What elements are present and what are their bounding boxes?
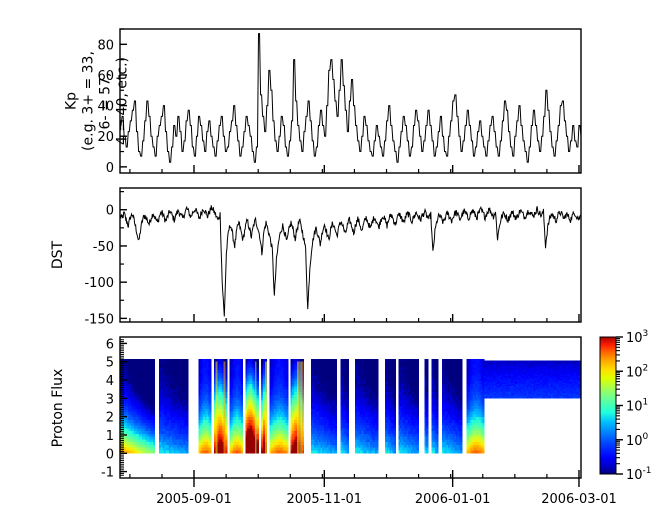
spectrogram-cell bbox=[377, 359, 379, 362]
spectrogram-cell bbox=[335, 392, 337, 395]
spectrogram-spike bbox=[297, 362, 299, 454]
spectrogram-cell bbox=[153, 359, 155, 362]
spectrogram-cell bbox=[210, 376, 212, 379]
spectrogram-cell bbox=[241, 384, 243, 387]
spectrogram-cell bbox=[210, 365, 212, 368]
spectrogram-cell bbox=[335, 451, 337, 454]
spectrogram-cell bbox=[394, 439, 396, 442]
spectrogram-cell bbox=[153, 409, 155, 412]
spectrogram-cell bbox=[225, 373, 227, 376]
spectrogram-cell bbox=[394, 359, 396, 362]
spectrogram-cell bbox=[286, 370, 288, 373]
spectrogram-cell bbox=[187, 442, 189, 445]
spectrogram-cell bbox=[394, 395, 396, 398]
spectrogram-cell bbox=[225, 412, 227, 415]
spectrogram-cell bbox=[210, 398, 212, 401]
spectrogram-cell bbox=[347, 370, 349, 373]
spectrogram-cell bbox=[394, 398, 396, 401]
spectrogram-cell bbox=[153, 439, 155, 442]
spectrogram-cell bbox=[210, 439, 212, 442]
spectrogram-cell bbox=[225, 378, 227, 381]
spectrogram-cell bbox=[377, 417, 379, 420]
spectrogram-cell bbox=[153, 431, 155, 434]
spectrogram-cell bbox=[377, 370, 379, 373]
spectrogram-cell bbox=[394, 448, 396, 451]
spectrogram-cell bbox=[335, 426, 337, 429]
spectrogram-cell bbox=[257, 409, 259, 412]
spectrogram-cell bbox=[210, 451, 212, 454]
spectrogram-cell bbox=[210, 414, 212, 417]
spectrogram-cell bbox=[377, 378, 379, 381]
spectrogram-cell bbox=[187, 381, 189, 384]
plot-svg: 020406080 Kp(e.g. 3+ = 33,6- = 57,4 = 40… bbox=[0, 0, 665, 523]
spectrogram-cell bbox=[335, 370, 337, 373]
spectrogram-cell bbox=[210, 442, 212, 445]
spectrogram-cell bbox=[257, 401, 259, 404]
spectrogram-cell bbox=[241, 426, 243, 429]
dst-axis-label-text: DST bbox=[50, 240, 66, 269]
spectrogram-cell bbox=[347, 395, 349, 398]
spectrogram-cell bbox=[210, 406, 212, 409]
spectrogram-cell bbox=[347, 387, 349, 390]
spectrogram-cell bbox=[347, 428, 349, 431]
spectrogram-cell bbox=[257, 365, 259, 368]
spectrogram-spike bbox=[302, 362, 304, 454]
spectrogram-cell bbox=[394, 387, 396, 390]
spectrogram-cell bbox=[153, 398, 155, 401]
spectrogram-cell bbox=[335, 420, 337, 423]
spectrogram-cell bbox=[286, 378, 288, 381]
spectrogram-cell bbox=[241, 406, 243, 409]
spectrogram-cell bbox=[257, 387, 259, 390]
spectrogram-cell bbox=[225, 359, 227, 362]
spectrogram-cell bbox=[153, 437, 155, 440]
spectrogram-cell bbox=[225, 423, 227, 426]
spectrogram-cell bbox=[335, 439, 337, 442]
spectrogram-cell bbox=[153, 389, 155, 392]
spectrogram-cell bbox=[347, 412, 349, 415]
spectrogram-cell bbox=[187, 392, 189, 395]
spectrogram-cell bbox=[187, 378, 189, 381]
spectrogram-cell bbox=[225, 445, 227, 448]
spectrogram-cell bbox=[335, 409, 337, 412]
spectrogram-cell bbox=[286, 387, 288, 390]
spectrogram-cell bbox=[286, 401, 288, 404]
spectrogram-cell bbox=[286, 428, 288, 431]
spectrogram-cell bbox=[241, 403, 243, 406]
spectrogram-cell bbox=[241, 437, 243, 440]
spectrogram-cell bbox=[241, 417, 243, 420]
dst-y-tick-label: 0 bbox=[106, 204, 114, 219]
spectrogram-cell bbox=[286, 414, 288, 417]
spectrogram-cell bbox=[153, 373, 155, 376]
spectrogram-cell bbox=[241, 389, 243, 392]
spectrogram-cell bbox=[286, 409, 288, 412]
spectrogram-cell bbox=[210, 381, 212, 384]
spectrogram-cell bbox=[286, 406, 288, 409]
spectrogram-cell bbox=[377, 398, 379, 401]
spectrogram-cell bbox=[257, 381, 259, 384]
spectrogram-cell bbox=[335, 387, 337, 390]
spectrogram-cell bbox=[187, 359, 189, 362]
spectrogram-cell bbox=[257, 384, 259, 387]
spectrogram-cell bbox=[286, 417, 288, 420]
spectrogram-cell bbox=[153, 426, 155, 429]
spectrogram-cell bbox=[377, 395, 379, 398]
spectrogram-cell bbox=[347, 403, 349, 406]
spectrogram-cell bbox=[286, 431, 288, 434]
spectrogram-cell bbox=[394, 434, 396, 437]
spectrogram-cell bbox=[225, 426, 227, 429]
spectrogram-cell bbox=[335, 437, 337, 440]
spectrogram-cell bbox=[225, 434, 227, 437]
spectrogram-cell bbox=[377, 428, 379, 431]
spectrogram-cell bbox=[210, 392, 212, 395]
spectrogram-cell bbox=[347, 426, 349, 429]
spectrogram-cell bbox=[394, 445, 396, 448]
spectrogram-cell bbox=[210, 445, 212, 448]
kp-y-tick-label: 80 bbox=[97, 38, 114, 53]
spectrogram-cell bbox=[335, 403, 337, 406]
spectrogram-cell bbox=[394, 437, 396, 440]
spectrogram-cell bbox=[394, 367, 396, 370]
spectrogram-cell bbox=[187, 384, 189, 387]
spectrogram-cell bbox=[394, 392, 396, 395]
spectrogram-cell bbox=[257, 448, 259, 451]
spectrogram-cell bbox=[187, 414, 189, 417]
spectrogram-cell bbox=[257, 398, 259, 401]
spectrogram-cell bbox=[286, 437, 288, 440]
spectrogram-spike bbox=[300, 362, 302, 454]
spectrogram-cell bbox=[257, 378, 259, 381]
spectrogram-spike bbox=[299, 362, 301, 454]
spectrogram-cell bbox=[225, 409, 227, 412]
spectrogram-cell bbox=[394, 431, 396, 434]
spectrogram-cell bbox=[257, 389, 259, 392]
spectrogram-cell bbox=[210, 417, 212, 420]
spectrogram-cell bbox=[257, 439, 259, 442]
spectrogram-cell bbox=[257, 403, 259, 406]
spectrogram-cell bbox=[377, 426, 379, 429]
spectrogram-cell bbox=[377, 423, 379, 426]
spectrogram-cell bbox=[210, 434, 212, 437]
spectrogram-cell bbox=[210, 395, 212, 398]
spectrogram-cell bbox=[377, 434, 379, 437]
spectrogram-cell bbox=[257, 392, 259, 395]
spectrogram-cell bbox=[286, 392, 288, 395]
spectrogram-cell bbox=[377, 362, 379, 365]
spectrogram-cell bbox=[377, 401, 379, 404]
spectrogram-cell bbox=[153, 420, 155, 423]
spectrogram-cell bbox=[257, 420, 259, 423]
spectrogram-cell bbox=[286, 448, 288, 451]
spectrogram-cell bbox=[187, 401, 189, 404]
spectrogram-cell bbox=[347, 451, 349, 454]
spectrogram-cell bbox=[153, 414, 155, 417]
spectrogram-cell bbox=[347, 384, 349, 387]
spectrogram-cell bbox=[335, 448, 337, 451]
spectrogram-cell bbox=[241, 420, 243, 423]
spectrogram-cell bbox=[241, 378, 243, 381]
spectrogram-cell bbox=[257, 406, 259, 409]
spectrogram-cell bbox=[153, 448, 155, 451]
spectrogram-cell bbox=[394, 414, 396, 417]
spectrogram-cell bbox=[153, 367, 155, 370]
spectrogram-cell bbox=[335, 428, 337, 431]
spectrogram-cell bbox=[377, 439, 379, 442]
spectrogram-cell bbox=[257, 434, 259, 437]
spectrogram-cell bbox=[347, 442, 349, 445]
spectrogram-cell bbox=[210, 420, 212, 423]
spectrogram-cell bbox=[241, 412, 243, 415]
spectrogram-cell bbox=[347, 398, 349, 401]
spectrogram-cell bbox=[335, 365, 337, 368]
spectrogram-cell bbox=[187, 367, 189, 370]
spectrogram-spike bbox=[224, 362, 226, 454]
spectrogram-cell bbox=[257, 414, 259, 417]
spectrogram-cell bbox=[225, 387, 227, 390]
spectrogram-cell bbox=[257, 423, 259, 426]
spectrogram-cell bbox=[347, 373, 349, 376]
spectrogram-cell bbox=[241, 439, 243, 442]
spectrogram-cell bbox=[153, 365, 155, 368]
spectrogram-cell bbox=[153, 378, 155, 381]
spectrogram-cell bbox=[210, 387, 212, 390]
spectrogram-cell bbox=[377, 389, 379, 392]
spectrogram-cell bbox=[286, 439, 288, 442]
spectrogram-cell bbox=[347, 401, 349, 404]
spectrogram-cell bbox=[241, 387, 243, 390]
spectrogram-cell bbox=[335, 417, 337, 420]
spectrogram-cell bbox=[153, 445, 155, 448]
spectrogram-cell bbox=[257, 412, 259, 415]
spectrogram-cell bbox=[347, 437, 349, 440]
spectrogram-cell bbox=[377, 406, 379, 409]
spectrogram-cell bbox=[225, 398, 227, 401]
spectrogram-cell bbox=[347, 414, 349, 417]
spectrogram-cell bbox=[225, 381, 227, 384]
spectrogram-cell bbox=[347, 392, 349, 395]
spectrogram-cell bbox=[210, 401, 212, 404]
spectrogram-cell bbox=[187, 448, 189, 451]
spectrogram-cell bbox=[302, 359, 304, 362]
spectrogram-cell bbox=[210, 362, 212, 365]
spectrogram-cell bbox=[225, 442, 227, 445]
spectrogram-cell bbox=[286, 426, 288, 429]
spectrogram-cell bbox=[377, 445, 379, 448]
spectrogram-cell bbox=[286, 445, 288, 448]
spectrogram-cell bbox=[187, 376, 189, 379]
spectrogram-cell bbox=[394, 376, 396, 379]
spectrogram-cell bbox=[394, 381, 396, 384]
spectrogram-cell bbox=[377, 381, 379, 384]
spectrogram-cell bbox=[210, 431, 212, 434]
spectrogram-cell bbox=[286, 381, 288, 384]
spectrogram-cell bbox=[335, 362, 337, 365]
spectrogram-cell bbox=[210, 423, 212, 426]
spectrogram-cell bbox=[153, 406, 155, 409]
spectrogram-cell bbox=[335, 389, 337, 392]
spectrogram-cell bbox=[286, 420, 288, 423]
spectrogram-cell bbox=[210, 426, 212, 429]
spectrogram-cell bbox=[347, 423, 349, 426]
spectrogram-cell bbox=[394, 362, 396, 365]
spectrogram-cell bbox=[210, 378, 212, 381]
spectrogram-cell bbox=[347, 417, 349, 420]
kp-axis-label-line: (e.g. 3+ = 33, bbox=[81, 51, 97, 151]
spectrogram-cell bbox=[225, 437, 227, 440]
spectrogram-cell bbox=[377, 451, 379, 454]
spectrogram-cell bbox=[225, 403, 227, 406]
spectrogram-cell bbox=[225, 431, 227, 434]
spectrogram-cell bbox=[347, 362, 349, 365]
spectrogram-cell bbox=[335, 412, 337, 415]
spectrogram-cell bbox=[257, 376, 259, 379]
spectrogram-cell bbox=[257, 428, 259, 431]
spectrogram-cell bbox=[153, 412, 155, 415]
spectrogram-cell bbox=[286, 403, 288, 406]
spectrogram-cell bbox=[265, 359, 267, 362]
spectrogram-cell bbox=[347, 367, 349, 370]
spectrogram-cell bbox=[394, 426, 396, 429]
spectrogram-cell bbox=[377, 431, 379, 434]
spectrogram-cell bbox=[187, 362, 189, 365]
spectrogram-cell bbox=[347, 376, 349, 379]
spectrogram-cell bbox=[187, 417, 189, 420]
spectrogram-cell bbox=[187, 451, 189, 454]
spectrogram-cell bbox=[335, 378, 337, 381]
kp-y-tick-label: 20 bbox=[97, 130, 114, 145]
spectrogram-cell bbox=[377, 448, 379, 451]
spectrogram-cell bbox=[377, 437, 379, 440]
spectrogram-cell bbox=[153, 434, 155, 437]
spectrogram-cell bbox=[377, 384, 379, 387]
spectrogram-cell bbox=[394, 389, 396, 392]
spectrogram-cell bbox=[187, 387, 189, 390]
spectrogram-spike bbox=[216, 362, 218, 454]
spectrogram-cell bbox=[225, 395, 227, 398]
spectrogram-cell bbox=[210, 367, 212, 370]
spectrogram-cell bbox=[241, 395, 243, 398]
spectrogram-cell bbox=[153, 451, 155, 454]
spectrogram-spike bbox=[265, 362, 267, 454]
spectrogram-cell bbox=[153, 387, 155, 390]
spectrogram-cell bbox=[225, 362, 227, 365]
spectrogram-cell bbox=[257, 445, 259, 448]
spectrogram-cell bbox=[394, 370, 396, 373]
spectrogram-cell bbox=[241, 409, 243, 412]
spectrogram-cell bbox=[210, 389, 212, 392]
spectrogram-cell bbox=[241, 381, 243, 384]
spectrogram-cell bbox=[394, 403, 396, 406]
spectrogram-cell bbox=[210, 409, 212, 412]
spectrogram-cell bbox=[187, 431, 189, 434]
spectrogram-cell bbox=[225, 384, 227, 387]
spectrogram-cell bbox=[377, 403, 379, 406]
spectrogram-cell bbox=[241, 428, 243, 431]
spectrogram-cell bbox=[210, 384, 212, 387]
spectrogram-cell bbox=[241, 392, 243, 395]
spectrogram-cell bbox=[153, 395, 155, 398]
spectrogram-cell bbox=[347, 359, 349, 362]
spectrogram-cell bbox=[286, 451, 288, 454]
spectrogram-cell bbox=[347, 448, 349, 451]
spectrogram-cell bbox=[335, 381, 337, 384]
spectrogram-cell bbox=[241, 365, 243, 368]
spectrogram-cell bbox=[335, 414, 337, 417]
spectrogram-cell bbox=[153, 370, 155, 373]
spectrogram-cell bbox=[153, 442, 155, 445]
spectrogram-cell bbox=[225, 392, 227, 395]
spectrogram-cell bbox=[394, 428, 396, 431]
spectrogram-cell bbox=[241, 376, 243, 379]
spectrogram-cell bbox=[187, 403, 189, 406]
spectrogram-cell bbox=[347, 434, 349, 437]
spectrogram-cell bbox=[377, 365, 379, 368]
spectrogram-cell bbox=[241, 451, 243, 454]
spectrogram-cell bbox=[286, 398, 288, 401]
spectrogram-cell bbox=[225, 406, 227, 409]
spectrogram-cell bbox=[286, 367, 288, 370]
spectrogram-cell bbox=[347, 431, 349, 434]
kp-axis-label-line: 6- = 57, bbox=[98, 73, 114, 130]
spectrogram-cell bbox=[394, 373, 396, 376]
spectrogram-cell bbox=[377, 376, 379, 379]
spectrogram-cell bbox=[286, 442, 288, 445]
spectrogram-cell bbox=[241, 373, 243, 376]
spectrogram-cell bbox=[335, 367, 337, 370]
spectrogram-cell bbox=[286, 362, 288, 365]
spectrogram-cell bbox=[377, 420, 379, 423]
spectrogram-cell bbox=[241, 442, 243, 445]
spectrogram-cell bbox=[394, 406, 396, 409]
kp-y-tick-label: 0 bbox=[106, 161, 114, 176]
spectrogram-cell bbox=[347, 409, 349, 412]
spectrogram-cell bbox=[347, 381, 349, 384]
spectrogram-cell bbox=[257, 395, 259, 398]
spectrogram-cell bbox=[210, 428, 212, 431]
spectrogram-cell bbox=[187, 389, 189, 392]
spectrogram-cell bbox=[347, 420, 349, 423]
spectrogram-cell bbox=[286, 434, 288, 437]
spectrogram-cell bbox=[394, 420, 396, 423]
spectrogram-cell bbox=[394, 409, 396, 412]
spectrogram-cell bbox=[225, 417, 227, 420]
spectrogram-cell bbox=[187, 406, 189, 409]
spectrogram-cell bbox=[225, 376, 227, 379]
spectrogram-cell bbox=[286, 365, 288, 368]
spectrogram-cell bbox=[257, 451, 259, 454]
kp-axis-label-line: 4 = 40, etc.) bbox=[115, 57, 131, 145]
dst-y-tick-label: -150 bbox=[84, 312, 114, 327]
spectrogram-cell bbox=[257, 437, 259, 440]
spectrogram-cell bbox=[241, 423, 243, 426]
spectrogram-cell bbox=[225, 448, 227, 451]
spectrogram-cell bbox=[347, 439, 349, 442]
spectrogram-cell bbox=[394, 442, 396, 445]
spectrogram-cell bbox=[153, 362, 155, 365]
spectrogram-cell bbox=[257, 417, 259, 420]
spectrogram-cell bbox=[394, 384, 396, 387]
spectrogram-cell bbox=[335, 442, 337, 445]
spectrogram-cell bbox=[335, 376, 337, 379]
spectrogram-cell bbox=[347, 365, 349, 368]
spectrogram-spike bbox=[255, 362, 257, 454]
spectrogram-cell bbox=[187, 439, 189, 442]
spectrogram-cell bbox=[241, 445, 243, 448]
spectrogram-cell bbox=[153, 417, 155, 420]
spectrogram-cell bbox=[394, 365, 396, 368]
